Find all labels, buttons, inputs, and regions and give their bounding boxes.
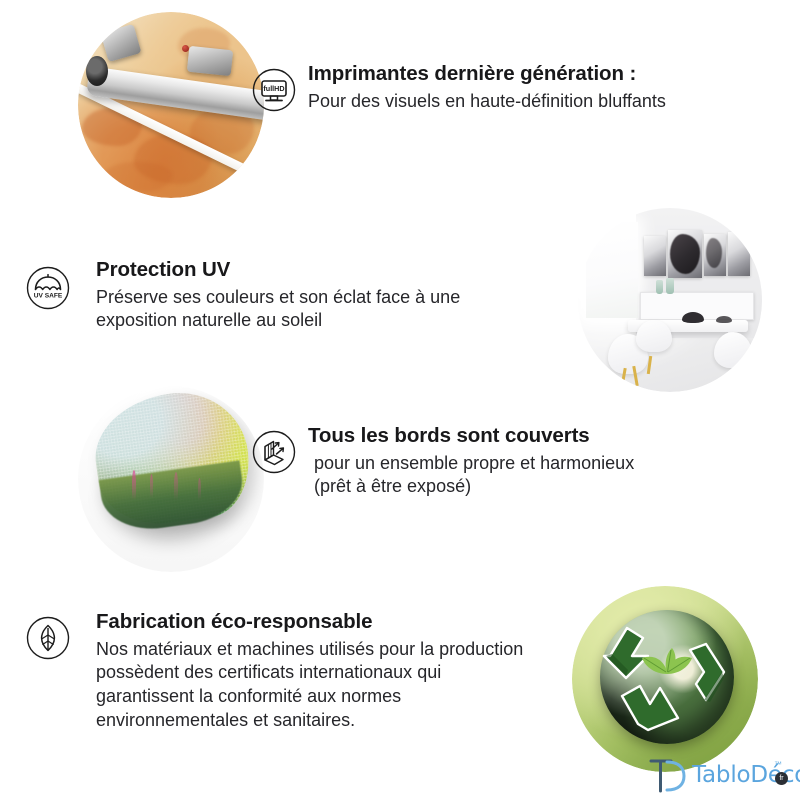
roller-indicator-dot — [182, 45, 189, 52]
feature-title-printers: Imprimantes dernière génération : — [308, 62, 728, 87]
green-earth-recycling-photo — [572, 586, 758, 772]
fullhd-monitor-icon: fullHD — [252, 68, 296, 112]
printer-roller-map-photo — [78, 12, 264, 198]
fullhd-icon-label: fullHD — [263, 84, 284, 93]
feature-title-uv-protection: Protection UV — [96, 258, 546, 283]
feature-infographic-page: fullHD Imprimantes dernière génération :… — [0, 0, 800, 800]
wall-art-panel — [644, 236, 666, 276]
domain-badge-fr: fr — [775, 772, 788, 785]
dining-chair — [714, 332, 752, 368]
feature-body-line: environnementales et sanitaires. — [96, 709, 586, 733]
leaf-icon — [26, 616, 70, 660]
feature-body-uv-protection: Préserve ses couleurs et son éclat face … — [96, 286, 546, 334]
map-landmass — [102, 162, 172, 192]
feature-row-covered-edges: Tous les bords sont couverts pour un ens… — [248, 424, 728, 524]
feature-row-printers: fullHD Imprimantes dernière génération :… — [248, 62, 728, 142]
trademark-symbol: ™ — [774, 760, 782, 769]
paint-drip — [150, 474, 153, 498]
vase — [656, 280, 663, 294]
feature-text-printers: Imprimantes dernière génération : Pour d… — [308, 62, 728, 113]
feature-text-eco-manufacturing: Fabrication éco-responsable Nos matériau… — [96, 610, 586, 733]
feature-body-line: garantissent la conformité aux normes — [96, 685, 586, 709]
feature-body-line: pour un ensemble propre et harmonieux — [314, 452, 728, 476]
dining-chair — [636, 320, 672, 352]
canvas-photo-inner — [78, 386, 264, 572]
table-object — [716, 316, 732, 323]
roller-head-right — [187, 46, 233, 76]
feature-title-covered-edges: Tous les bords sont couverts — [308, 424, 728, 449]
paint-drip — [174, 472, 178, 500]
roller-flange — [86, 56, 108, 86]
feature-title-eco-manufacturing: Fabrication éco-responsable — [96, 610, 586, 635]
canvas-corner-photo — [78, 386, 264, 572]
feature-body-line: Nos matériaux et machines utilisés pour … — [96, 638, 586, 662]
feature-body-line: exposition naturelle au soleil — [96, 309, 546, 333]
roller-head-left — [101, 24, 142, 62]
feature-body-line: possèdent des certificats internationaux… — [96, 661, 586, 685]
feature-text-covered-edges: Tous les bords sont couverts pour un ens… — [308, 424, 728, 499]
earth-photo-inner — [572, 586, 758, 772]
feature-body-line: Préserve ses couleurs et son éclat face … — [96, 286, 546, 310]
leaf-sprout-icon — [636, 644, 698, 692]
vase — [666, 278, 674, 294]
feature-body-eco-manufacturing: Nos matériaux et machines utilisés pour … — [96, 638, 586, 733]
table-object — [682, 312, 704, 323]
uv-safe-umbrella-icon: UV SAFE — [26, 266, 70, 310]
feature-row-eco-manufacturing: Fabrication éco-responsable Nos matériau… — [26, 610, 586, 760]
feature-body-printers: Pour des visuels en haute-définition blu… — [308, 90, 728, 114]
room-window — [586, 222, 638, 318]
feature-body-covered-edges: pour un ensemble propre et harmonieux (p… — [314, 452, 728, 500]
printer-photo-inner — [78, 12, 264, 198]
interior-photo-inner — [578, 208, 762, 392]
paint-drip — [132, 470, 136, 500]
uv-safe-icon-label: UV SAFE — [34, 292, 63, 299]
paint-drip — [198, 478, 201, 500]
tablodeco-monogram-icon — [648, 758, 688, 799]
feature-body-line: Pour des visuels en haute-définition blu… — [308, 90, 728, 114]
wall-art-panel — [728, 232, 750, 276]
white-dining-room-photo — [578, 208, 762, 392]
feature-row-uv-protection: UV SAFE Protection UV Préserve ses coule… — [26, 258, 546, 348]
feature-body-line: (prêt à être exposé) — [314, 475, 728, 499]
feature-text-uv-protection: Protection UV Préserve ses couleurs et s… — [96, 258, 546, 333]
tablodeco-logo[interactable]: TabloDéco ™ fr — [648, 756, 794, 796]
wrapped-edge-arrows-icon — [252, 430, 296, 474]
